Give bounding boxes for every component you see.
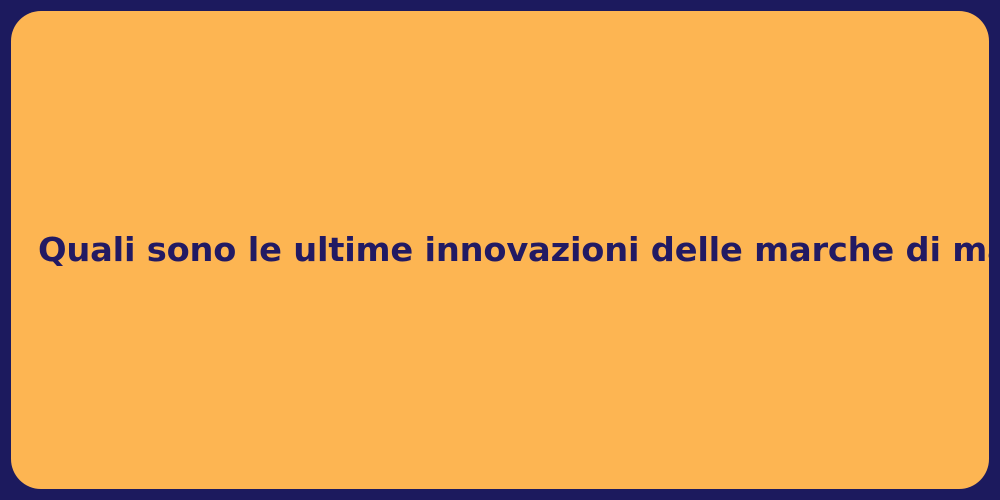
banner-card: Quali sono le ultime innovazioni delle m… bbox=[11, 11, 989, 489]
banner-root: Quali sono le ultime innovazioni delle m… bbox=[0, 0, 1000, 500]
headline-question: Quali sono le ultime innovazioni delle m… bbox=[11, 231, 989, 270]
